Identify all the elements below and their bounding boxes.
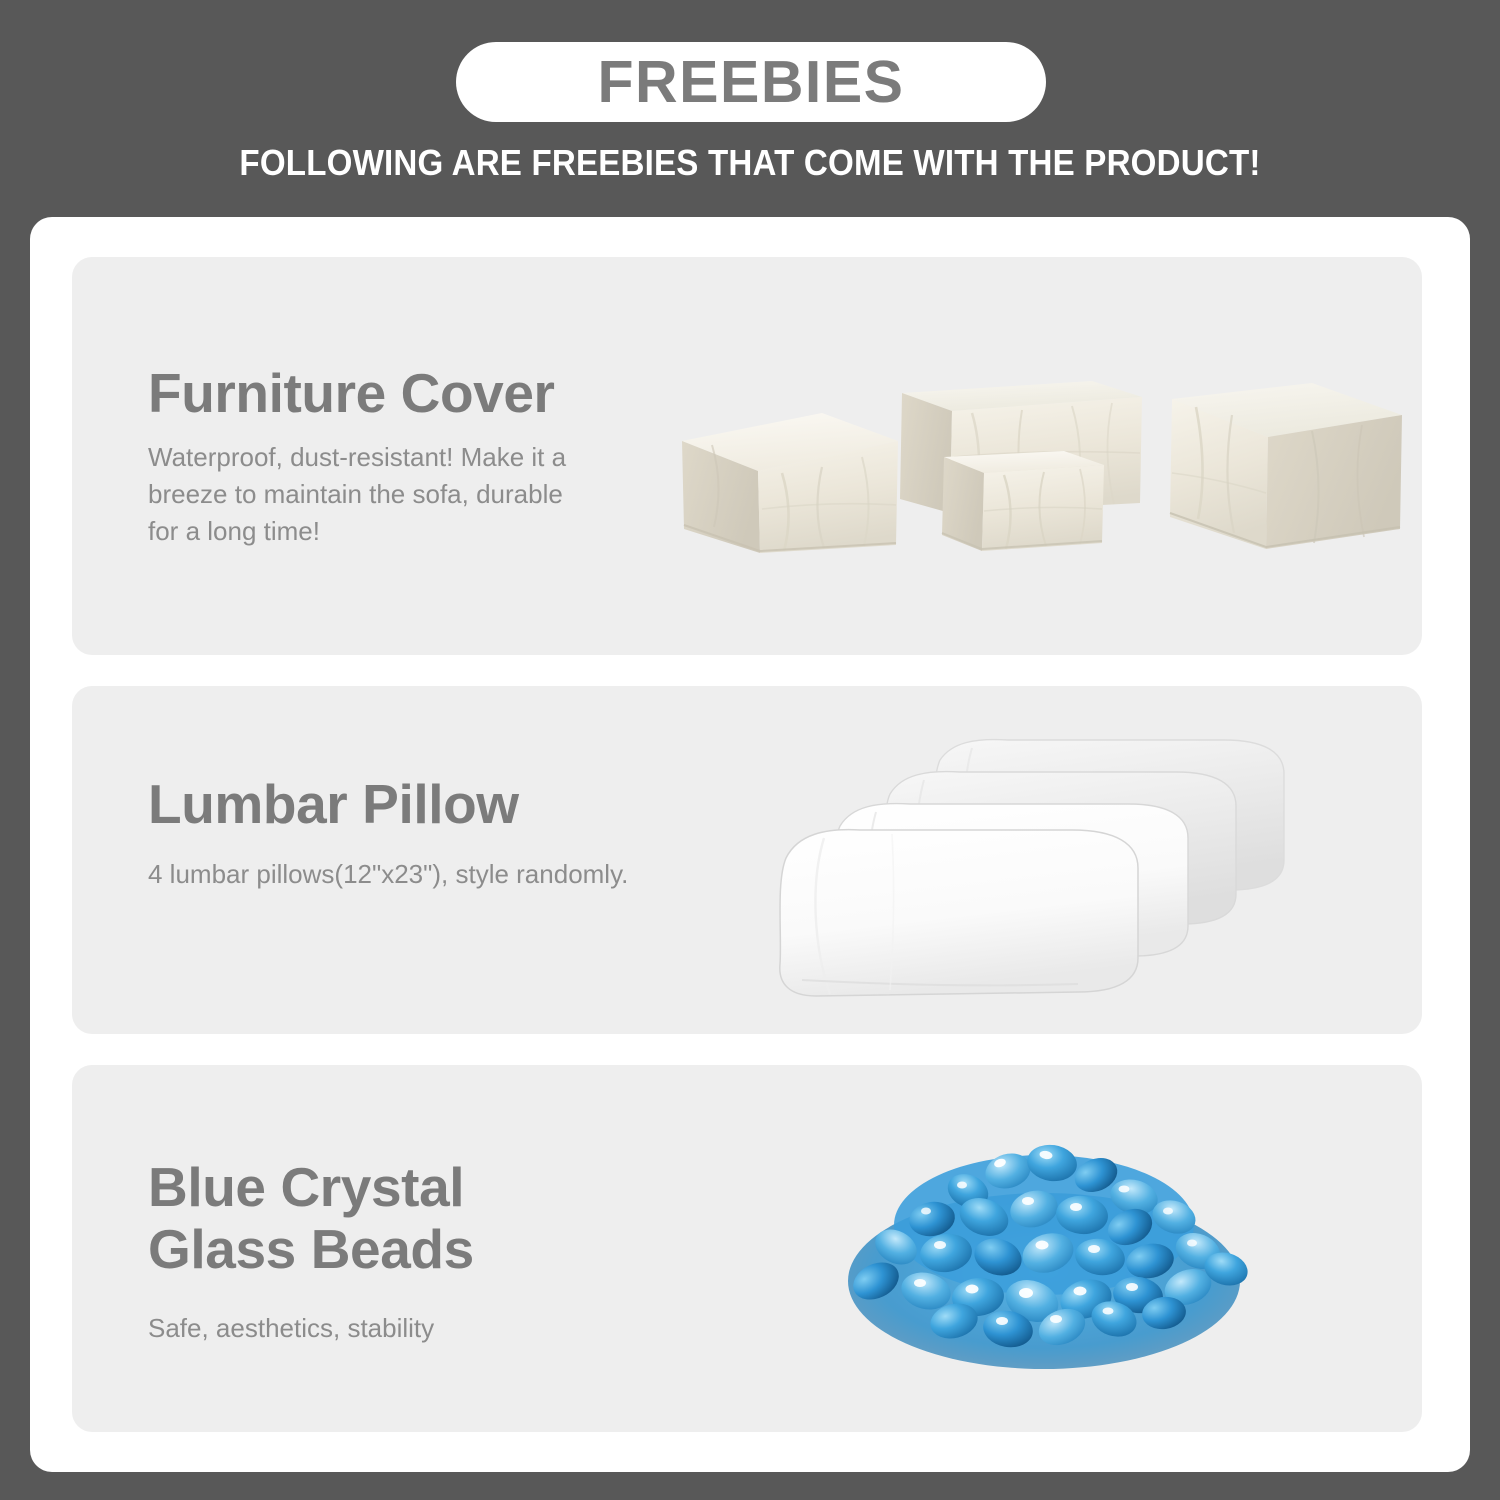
freebies-badge: FREEBIES <box>456 42 1046 122</box>
card-title: Lumbar Pillow <box>148 774 768 836</box>
card-text-block: Blue Crystal Glass Beads Safe, aesthetic… <box>148 1157 768 1348</box>
poster-subtitle: FOLLOWING ARE FREEBIES THAT COME WITH TH… <box>60 142 1440 184</box>
card-description: Safe, aesthetics, stability <box>148 1310 768 1347</box>
freebies-panel: Furniture Cover Waterproof, dust-resista… <box>30 217 1470 1472</box>
lumbar-pillows-illustration <box>772 708 1312 1008</box>
card-text-block: Lumbar Pillow 4 lumbar pillows(12"x23"),… <box>148 774 768 893</box>
cover-right-sofa <box>1170 383 1402 549</box>
pillow-1 <box>780 830 1138 996</box>
freebies-badge-label: FREEBIES <box>597 53 904 112</box>
card-description: 4 lumbar pillows(12"x23"), style randoml… <box>148 856 768 893</box>
freebie-card-lumbar-pillow: Lumbar Pillow 4 lumbar pillows(12"x23"),… <box>72 686 1422 1034</box>
cover-left-sofa <box>682 413 898 553</box>
furniture-cover-set-photo <box>672 353 1412 583</box>
freebies-poster: FREEBIES FOLLOWING ARE FREEBIES THAT COM… <box>0 0 1500 1500</box>
four-lumbar-pillows-photo <box>772 708 1312 1008</box>
blue-crystal-glass-beads-photo <box>812 1105 1272 1385</box>
glass-beads-illustration <box>812 1105 1272 1385</box>
furniture-cover-illustration <box>672 353 1412 583</box>
freebie-card-furniture-cover: Furniture Cover Waterproof, dust-resista… <box>72 257 1422 655</box>
cover-center-table <box>942 451 1104 551</box>
poster-header: FREEBIES FOLLOWING ARE FREEBIES THAT COM… <box>0 0 1500 200</box>
freebie-card-blue-crystal-glass-beads: Blue Crystal Glass Beads Safe, aesthetic… <box>72 1065 1422 1432</box>
card-title: Blue Crystal Glass Beads <box>148 1157 768 1280</box>
